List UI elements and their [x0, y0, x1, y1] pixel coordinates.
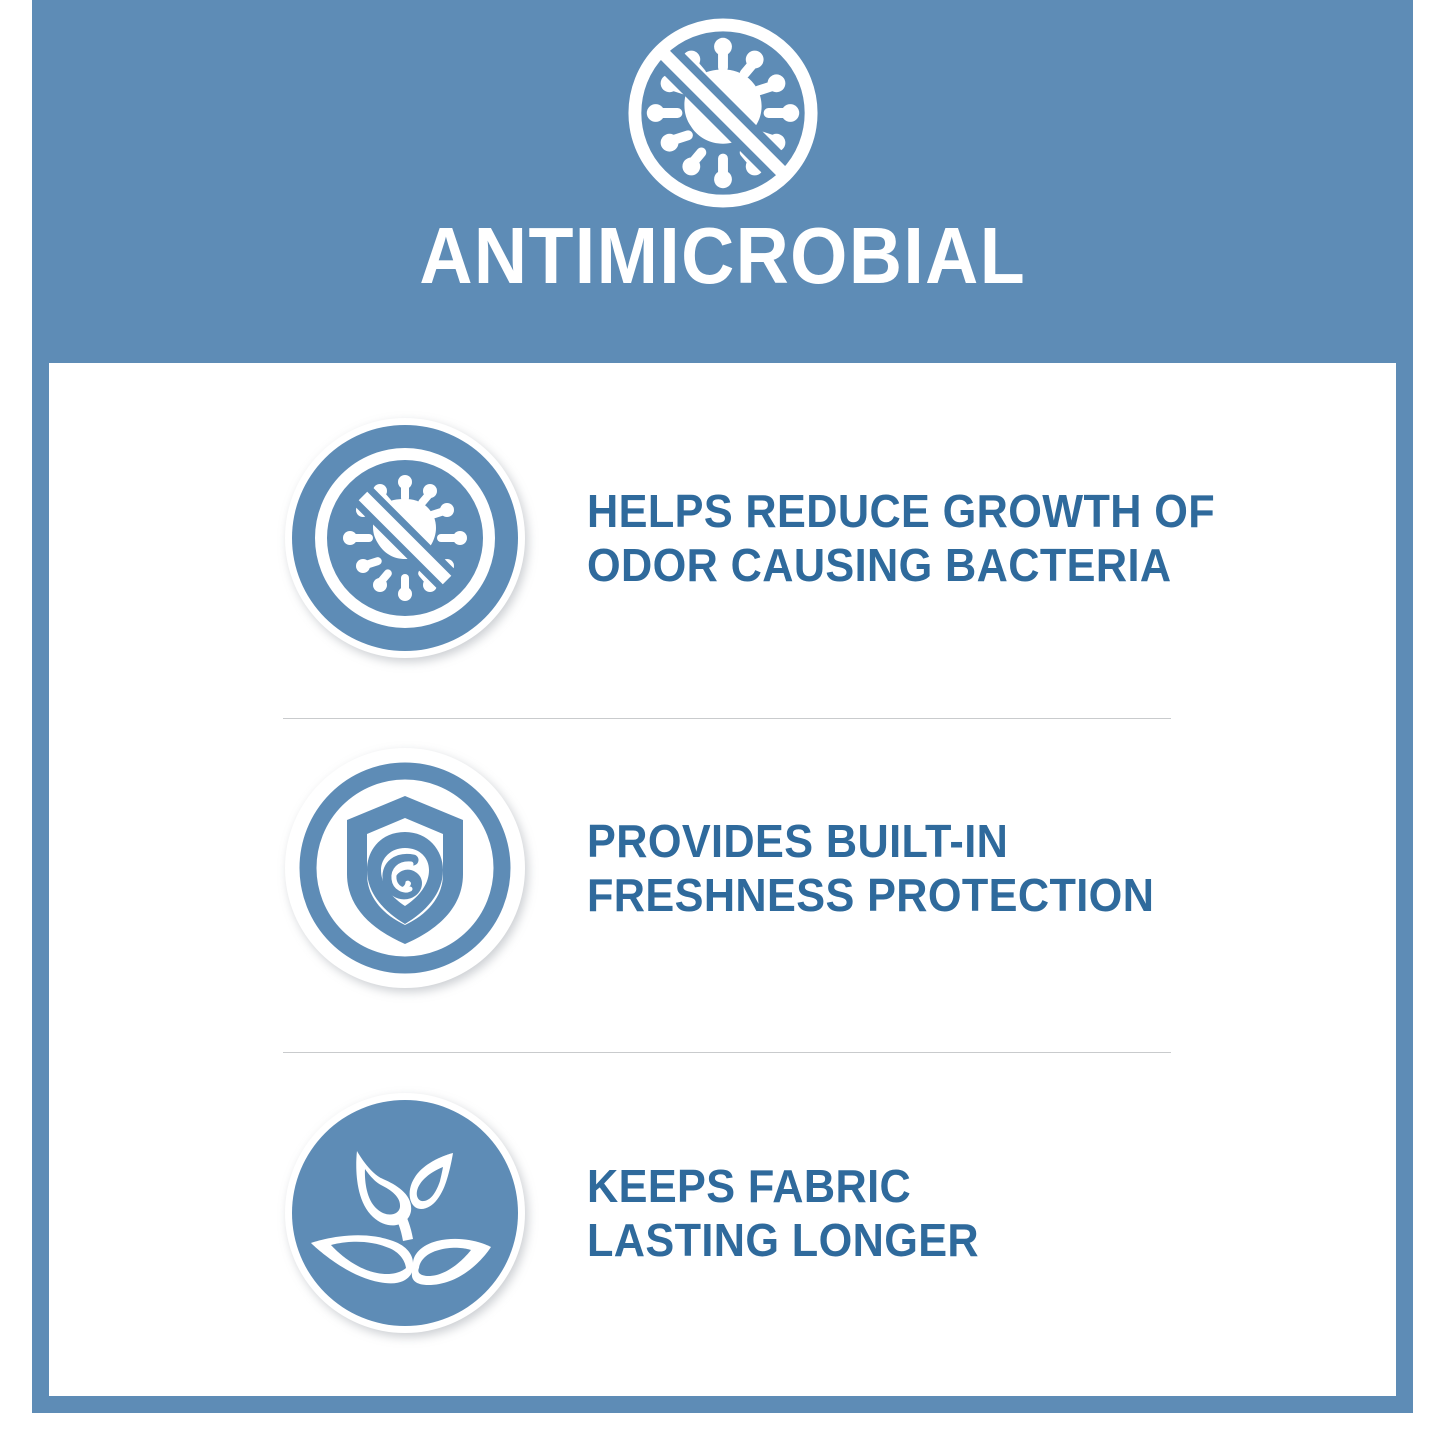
feature-list-panel: HELPS REDUCE GROWTH OF ODOR CAUSING BACT…	[49, 363, 1396, 1396]
feature-row-1-text: HELPS REDUCE GROWTH OF ODOR CAUSING BACT…	[587, 484, 1215, 592]
feature-row-3-text: KEEPS FABRIC LASTING LONGER	[587, 1159, 979, 1267]
sprout-leaf-icon	[285, 1093, 525, 1333]
badge-shield	[285, 748, 525, 988]
feature-row-2-text: PROVIDES BUILT-IN FRESHNESS PROTECTION	[587, 814, 1154, 922]
feature-row-3: KEEPS FABRIC LASTING LONGER	[49, 1063, 1396, 1363]
badge-no-germ	[285, 418, 525, 658]
no-germ-icon	[285, 418, 525, 658]
badge-sprout	[285, 1093, 525, 1333]
feature-row-1: HELPS REDUCE GROWTH OF ODOR CAUSING BACT…	[49, 388, 1396, 688]
antimicrobial-infographic: ANTIMICROBIAL	[0, 0, 1445, 1445]
feature-rows: HELPS REDUCE GROWTH OF ODOR CAUSING BACT…	[49, 363, 1396, 1396]
shield-swirl-icon	[285, 748, 525, 988]
no-germ-icon	[624, 14, 822, 212]
feature-divider-2	[283, 1052, 1171, 1053]
feature-divider-1	[283, 718, 1171, 719]
header-banner: ANTIMICROBIAL	[32, 0, 1413, 363]
feature-row-2: PROVIDES BUILT-IN FRESHNESS PROTECTION	[49, 718, 1396, 1018]
page-title: ANTIMICROBIAL	[419, 214, 1026, 298]
